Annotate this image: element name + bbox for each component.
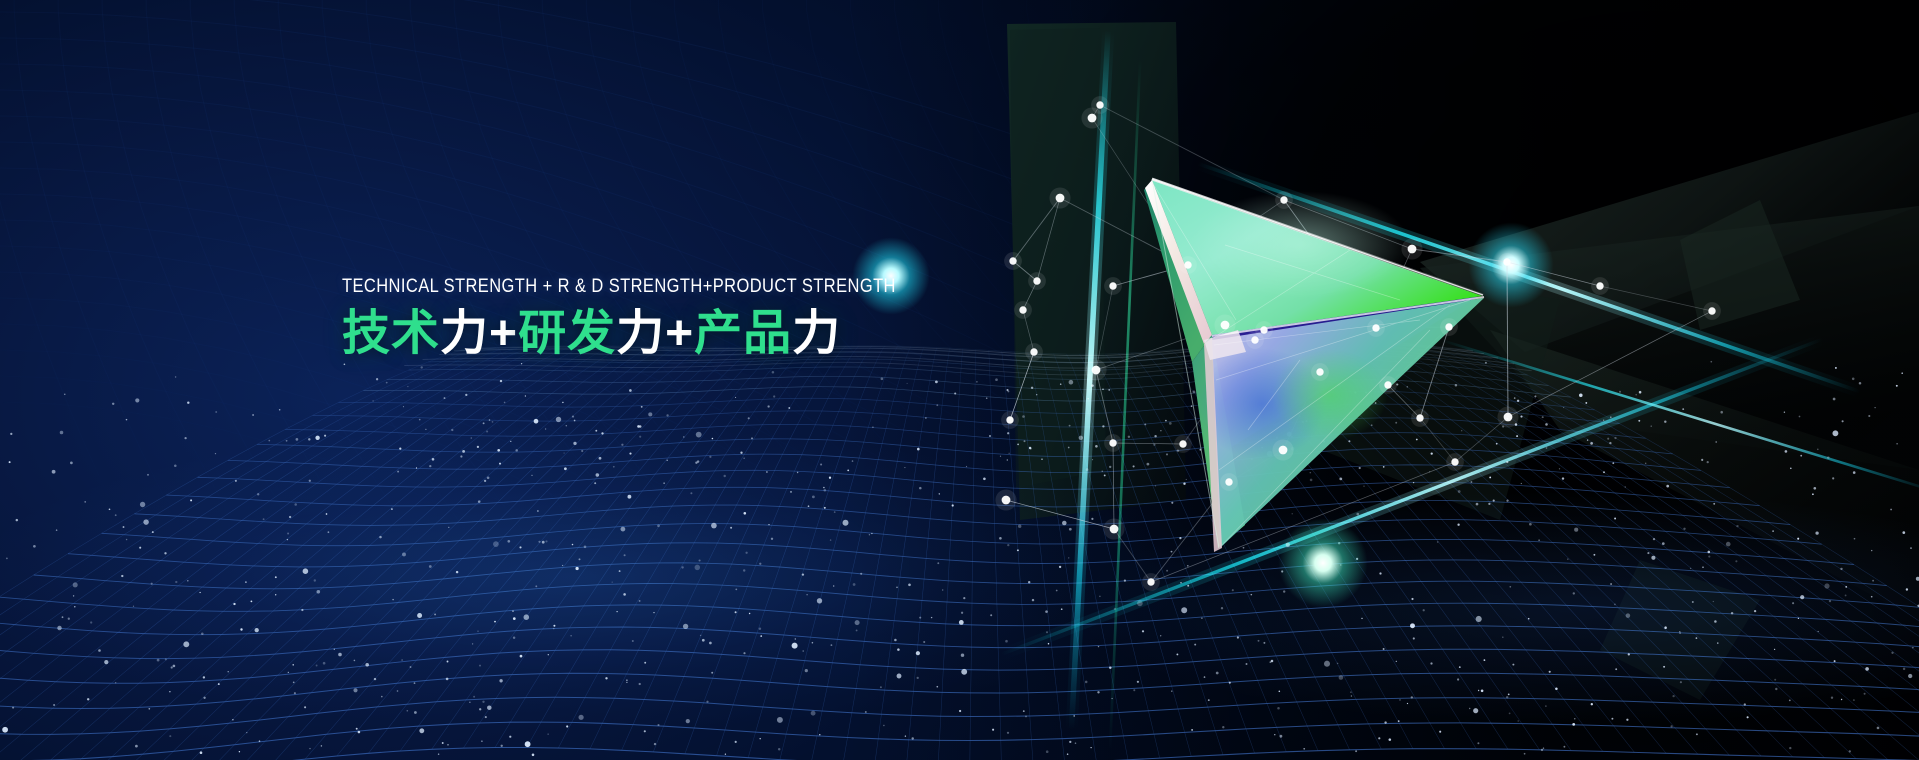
eyebrow-text: TECHNICAL STRENGTH + R & D STRENGTH+PROD…	[342, 277, 934, 297]
headline-block: TECHNICAL STRENGTH + R & D STRENGTH+PROD…	[342, 277, 1042, 359]
headline-segment-4: 力	[616, 307, 665, 360]
headline-segment-7: 力	[792, 307, 841, 360]
headline-segment-2: +	[489, 307, 518, 360]
headline-text: 技术力+研发力+产品力	[342, 308, 1042, 360]
hero-banner: TECHNICAL STRENGTH + R & D STRENGTH+PROD…	[0, 0, 1919, 760]
headline-segment-1: 力	[440, 307, 489, 360]
headline-segment-6: 产品	[694, 307, 792, 360]
headline-segment-0: 技术	[342, 307, 440, 360]
headline-segment-3: 研发	[518, 307, 616, 360]
headline-segment-5: +	[665, 307, 694, 360]
prism-graphic	[0, 0, 1919, 760]
